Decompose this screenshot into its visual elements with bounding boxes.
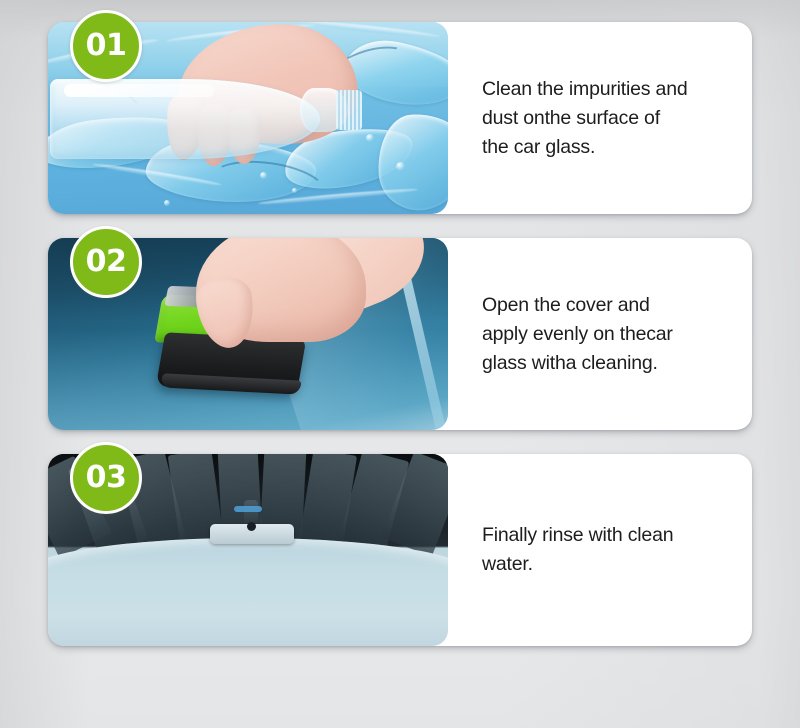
step-card-03: 03 Car windshield viewed from above unde…: [48, 454, 752, 646]
windshield-glass: [48, 538, 448, 646]
bottle-highlight: [64, 84, 214, 97]
water-droplet: [396, 162, 405, 171]
step-body-03: Finally rinse with clean water.: [448, 454, 752, 646]
step-badge-02: 02: [70, 226, 142, 298]
step-description: Finally rinse with clean water.: [482, 521, 673, 579]
bottle-cap: [336, 90, 362, 130]
step-description: Open the cover and apply evenly on theca…: [482, 291, 673, 378]
mirror-blue-strip: [234, 506, 262, 512]
step-number-label: 03: [86, 463, 127, 493]
step-card-02: 02 Hand holding a green applicator pad s…: [48, 238, 752, 430]
step-body-02: Open the cover and apply evenly on theca…: [448, 238, 752, 430]
step-body-01: Clean the impurities and dust onthe surf…: [448, 22, 752, 214]
water-ribbon: [375, 111, 448, 213]
water-droplet: [292, 188, 297, 193]
step-card-01: 01: [48, 22, 752, 214]
steps-list: 01: [48, 22, 752, 670]
step-number-label: 01: [86, 31, 127, 61]
water-droplet: [260, 172, 267, 179]
water-droplet: [366, 134, 374, 142]
rain-sensor-dot: [247, 522, 256, 531]
step-number-label: 02: [86, 247, 127, 277]
step-badge-03: 03: [70, 442, 142, 514]
water-droplet: [164, 200, 170, 206]
step-description: Clean the impurities and dust onthe surf…: [482, 75, 687, 162]
step-badge-01: 01: [70, 10, 142, 82]
